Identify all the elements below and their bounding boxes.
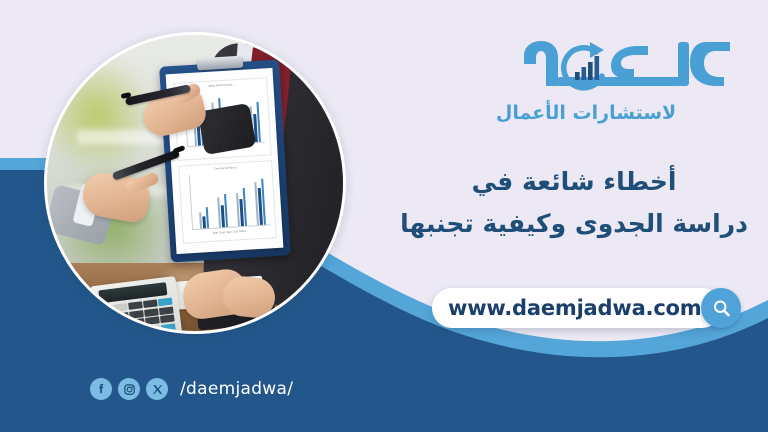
website-url-bar[interactable]: www.daemjadwa.com	[432, 288, 722, 328]
search-icon[interactable]	[701, 288, 741, 328]
photo-chart-cost-plot	[192, 170, 271, 229]
brand-tagline: لاستشارات الأعمال	[446, 102, 726, 124]
brand-logo[interactable]: لاستشارات الأعمال	[420, 36, 750, 146]
photo-calculator	[90, 276, 182, 334]
page-title-line-1: أخطاء شائعة في	[396, 162, 752, 202]
hero-photo-scene: Sales Performance	[47, 35, 343, 331]
instagram-icon[interactable]	[118, 378, 140, 400]
page-title-line-2: دراسة الجدوى وكيفية تجنبها	[396, 202, 752, 246]
page-title: أخطاء شائعة في دراسة الجدوى وكيفية تجنبه…	[396, 162, 752, 246]
social-links: /daemjadwa/	[90, 378, 293, 400]
poster-canvas: Sales Performance	[0, 0, 768, 432]
hero-photo: Sales Performance	[44, 32, 346, 334]
social-handle-text: /daemjadwa/	[180, 379, 293, 399]
brand-wordmark-graphic	[406, 36, 736, 102]
x-twitter-icon[interactable]	[146, 378, 168, 400]
website-url-text: www.daemjadwa.com	[432, 296, 701, 320]
photo-calculator-keys	[98, 298, 175, 334]
facebook-icon[interactable]	[90, 378, 112, 400]
photo-chart-cost: Cost Performance	[178, 160, 277, 244]
photo-upper-sleeve	[198, 103, 257, 155]
